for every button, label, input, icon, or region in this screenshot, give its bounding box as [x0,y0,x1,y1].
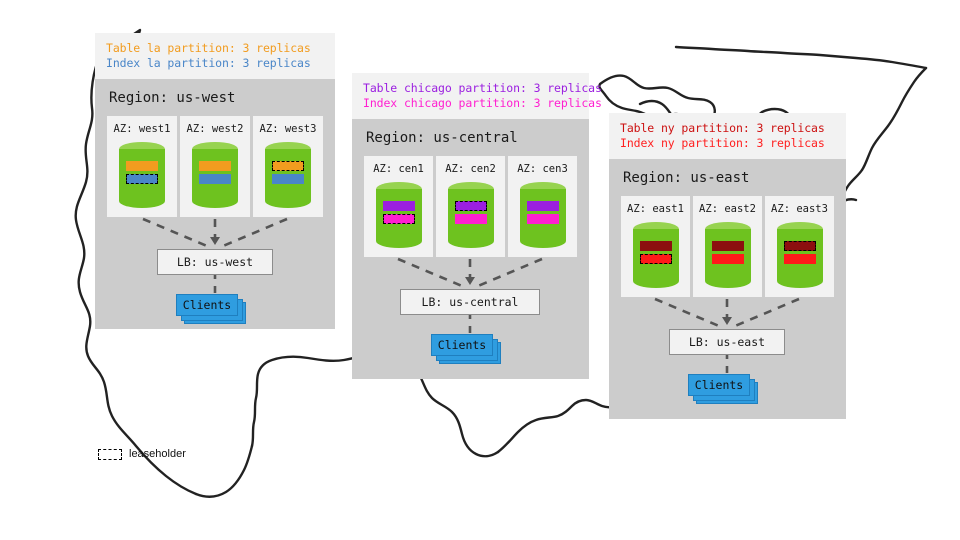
node-cylinder-west1[interactable] [119,142,165,208]
az-label: AZ: cen3 [517,163,568,175]
arrowhead [210,237,220,245]
clients-stack-us-east[interactable]: Clients [688,374,766,408]
node-cylinder-cen3[interactable] [520,182,566,248]
node-cylinder-west2[interactable] [192,142,238,208]
legend: leaseholder [98,448,186,460]
az-box-east1[interactable]: AZ: east1 [621,196,690,297]
diagram-canvas: Table la partition: 3 replicas Index la … [0,0,960,540]
az-row-us-central: AZ: cen1 AZ: cen2 [364,156,577,257]
az-box-cen2[interactable]: AZ: cen2 [436,156,505,257]
table-replica-bar [383,201,415,211]
index-replica-bar [712,254,744,264]
az-row-us-east: AZ: east1 AZ: east2 [621,196,834,297]
az-box-cen1[interactable]: AZ: cen1 [364,156,433,257]
az-label: AZ: west2 [187,123,244,135]
clients-label[interactable]: Clients [176,294,238,316]
az-label: AZ: cen2 [445,163,496,175]
az-box-east2[interactable]: AZ: east2 [693,196,762,297]
table-replica-bar-leaseholder [272,161,304,171]
node-cylinder-east1[interactable] [633,222,679,288]
load-balancer-us-east[interactable]: LB: us-east [669,329,785,355]
index-replica-bar-leaseholder [383,214,415,224]
region-title: Region: us-central [352,119,589,156]
node-cylinder-cen2[interactable] [448,182,494,248]
load-balancer-us-central[interactable]: LB: us-central [400,289,540,315]
node-cylinder-west3[interactable] [265,142,311,208]
az-label: AZ: west1 [114,123,171,135]
table-replica-bar-leaseholder [784,241,816,251]
table-replica-bar [712,241,744,251]
partition-banner-us-east: Table ny partition: 3 replicas Index ny … [609,113,846,159]
clients-label[interactable]: Clients [688,374,750,396]
partition-banner-us-west: Table la partition: 3 replicas Index la … [95,33,335,79]
index-replica-bar [272,174,304,184]
table-replica-bar [527,201,559,211]
az-box-west2[interactable]: AZ: west2 [180,116,250,217]
az-label: AZ: east3 [771,203,828,215]
az-row-us-west: AZ: west1 AZ: west2 [107,116,323,217]
az-box-east3[interactable]: AZ: east3 [765,196,834,297]
region-panel-us-west: Region: us-west AZ: west1 AZ: west2 [95,79,335,329]
az-label: AZ: west3 [260,123,317,135]
az-box-west3[interactable]: AZ: west3 [253,116,323,217]
index-replica-bar [199,174,231,184]
banner-line-index: Index la partition: 3 replicas [106,56,324,71]
az-label: AZ: east2 [699,203,756,215]
table-replica-bar [199,161,231,171]
index-replica-bar-leaseholder [640,254,672,264]
banner-line-index: Index ny partition: 3 replicas [620,136,835,151]
az-box-cen3[interactable]: AZ: cen3 [508,156,577,257]
arrowhead [465,277,475,285]
legend-label: leaseholder [129,448,186,460]
node-cylinder-east2[interactable] [705,222,751,288]
banner-line-table: Table ny partition: 3 replicas [620,121,835,136]
partition-banner-us-central: Table chicago partition: 3 replicas Inde… [352,73,589,119]
node-cylinder-east3[interactable] [777,222,823,288]
load-balancer-us-west[interactable]: LB: us-west [157,249,273,275]
leaseholder-swatch-icon [98,449,122,460]
clients-stack-us-west[interactable]: Clients [176,294,254,328]
region-group-us-east: Table ny partition: 3 replicas Index ny … [609,113,846,419]
region-title: Region: us-east [609,159,846,196]
region-panel-us-central: Region: us-central AZ: cen1 AZ: cen2 [352,119,589,379]
table-replica-bar [640,241,672,251]
region-title: Region: us-west [95,79,335,116]
table-replica-bar [126,161,158,171]
banner-line-table: Table la partition: 3 replicas [106,41,324,56]
banner-line-table: Table chicago partition: 3 replicas [363,81,578,96]
arrowhead [722,317,732,325]
az-label: AZ: east1 [627,203,684,215]
region-group-us-west: Table la partition: 3 replicas Index la … [95,33,335,329]
clients-stack-us-central[interactable]: Clients [431,334,509,368]
node-cylinder-cen1[interactable] [376,182,422,248]
banner-line-index: Index chicago partition: 3 replicas [363,96,578,111]
az-box-west1[interactable]: AZ: west1 [107,116,177,217]
index-replica-bar [455,214,487,224]
az-label: AZ: cen1 [373,163,424,175]
clients-label[interactable]: Clients [431,334,493,356]
index-replica-bar-leaseholder [126,174,158,184]
index-replica-bar [784,254,816,264]
region-panel-us-east: Region: us-east AZ: east1 AZ: east2 [609,159,846,419]
region-group-us-central: Table chicago partition: 3 replicas Inde… [352,73,589,379]
table-replica-bar-leaseholder [455,201,487,211]
index-replica-bar [527,214,559,224]
